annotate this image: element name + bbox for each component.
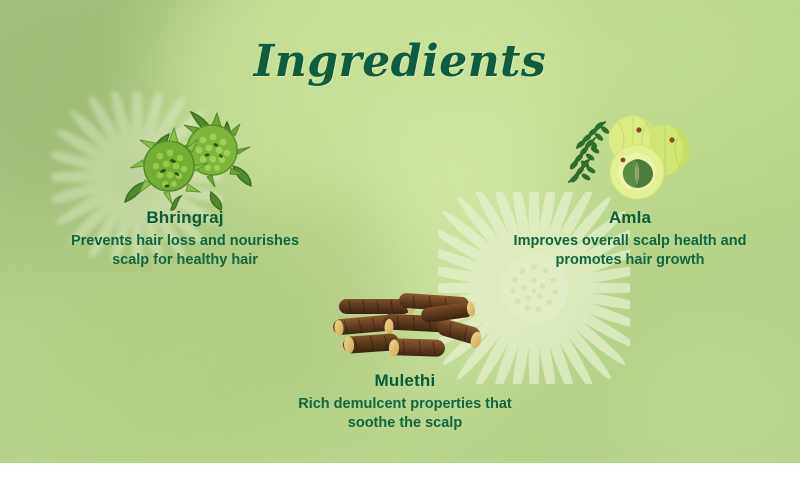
ingredient-amla: Amla Improves overall scalp health and p…: [480, 104, 780, 274]
ingredient-description-line2: soothe the scalp: [255, 414, 555, 433]
bottom-white-strip: [0, 463, 800, 477]
ingredient-description-line1: Improves overall scalp health and: [480, 232, 780, 251]
bhringraj-flower-icon: [115, 104, 255, 212]
ingredient-name: Mulethi: [255, 371, 555, 391]
ingredient-description-line1: Rich demulcent properties that: [255, 395, 555, 414]
bhringraj-text: Bhringraj Prevents hair loss and nourish…: [30, 208, 340, 270]
mulethi-text: Mulethi Rich demulcent properties that s…: [255, 371, 555, 433]
ingredient-description-line1: Prevents hair loss and nourishes: [30, 232, 340, 251]
ingredient-mulethi: Mulethi Rich demulcent properties that s…: [255, 277, 555, 442]
ingredient-name: Amla: [480, 208, 780, 228]
amla-text: Amla Improves overall scalp health and p…: [480, 208, 780, 270]
page-title: Ingredients: [0, 36, 800, 87]
ingredient-description-line2: promotes hair growth: [480, 251, 780, 270]
amla-berries-icon: [565, 104, 695, 204]
ingredient-name: Bhringraj: [30, 208, 340, 228]
ingredients-poster: Ingredients: [0, 0, 800, 477]
ingredient-bhringraj: Bhringraj Prevents hair loss and nourish…: [30, 104, 340, 274]
ingredient-description-line2: scalp for healthy hair: [30, 251, 340, 270]
mulethi-licorice-roots-icon: [325, 277, 485, 367]
